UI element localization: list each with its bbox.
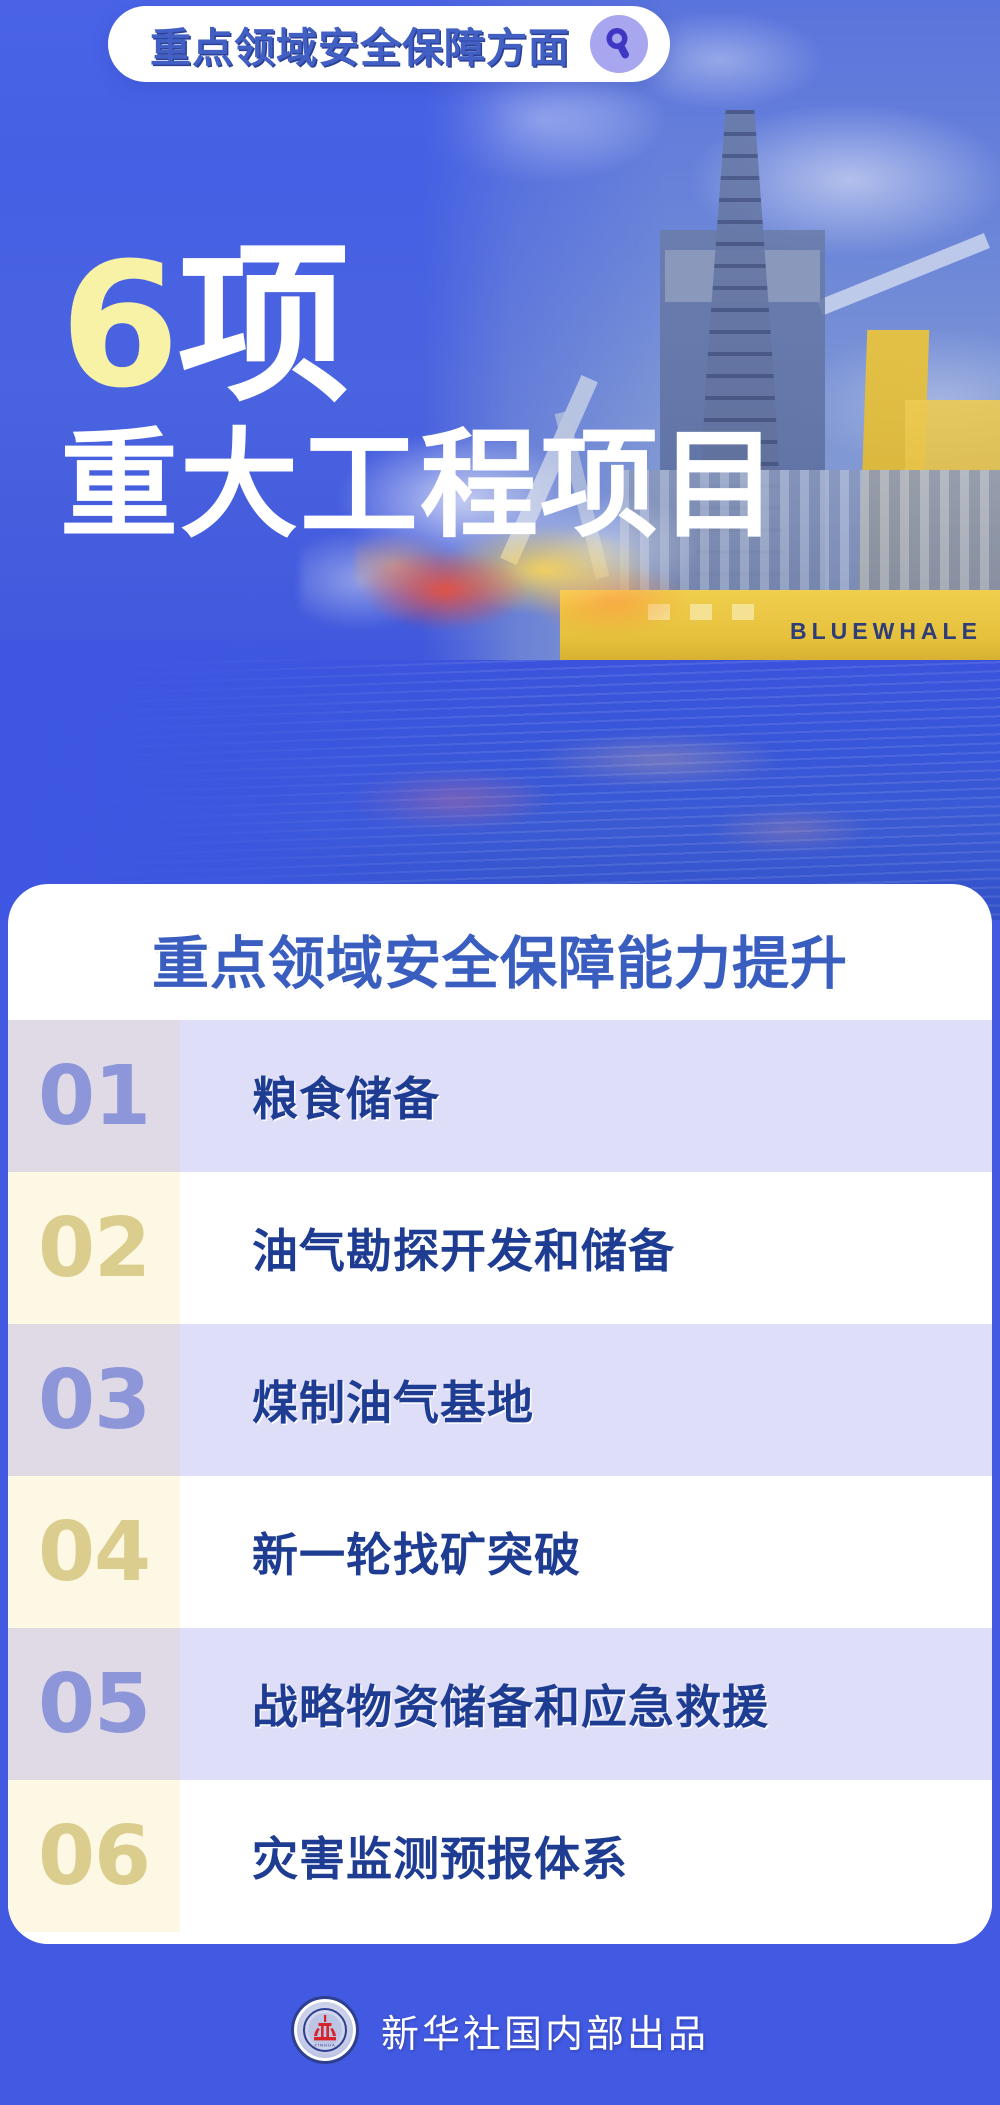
list-item-label: 新一轮找矿突破 — [180, 1519, 992, 1585]
xinhua-logo-icon: XINHUA — [291, 1996, 359, 2064]
infographic-poster: BLUEWHALE 重点领域安全保障方面 6项 重大工程项目 重点领域安全保障能… — [0, 0, 1000, 2105]
title-line-one: 6项 — [60, 240, 780, 412]
list-item-label: 油气勘探开发和储备 — [180, 1215, 992, 1281]
list-item[interactable]: 01 粮食储备 — [8, 1020, 992, 1172]
list-item-number: 04 — [8, 1476, 180, 1628]
list-item[interactable]: 03 煤制油气基地 — [8, 1324, 992, 1476]
hull-name-label: BLUEWHALE — [790, 618, 982, 645]
list-item-label: 战略物资储备和应急救援 — [180, 1671, 992, 1737]
footer: XINHUA 新华社国内部出品 — [0, 1975, 1000, 2085]
list-item-number: 05 — [8, 1628, 180, 1780]
list-item-label: 粮食储备 — [180, 1063, 992, 1129]
title-count: 6 — [60, 225, 178, 426]
title-count-unit: 项 — [178, 225, 348, 426]
search-pin-icon — [590, 15, 648, 73]
page-title: 6项 重大工程项目 — [60, 240, 780, 544]
list-item-label: 煤制油气基地 — [180, 1367, 992, 1433]
list-item-number: 06 — [8, 1780, 180, 1932]
content-card: 重点领域安全保障能力提升 01 粮食储备 02 油气勘探开发和储备 03 煤制油… — [8, 884, 992, 1944]
svg-text:XINHUA: XINHUA — [314, 2043, 336, 2048]
card-heading: 重点领域安全保障能力提升 — [8, 918, 992, 1000]
title-line-two: 重大工程项目 — [60, 426, 780, 544]
list-item[interactable]: 06 灾害监测预报体系 — [8, 1780, 992, 1932]
list-item-number: 03 — [8, 1324, 180, 1476]
list-item[interactable]: 04 新一轮找矿突破 — [8, 1476, 992, 1628]
section-badge-label: 重点领域安全保障方面 — [150, 14, 570, 74]
list-item-label: 灾害监测预报体系 — [180, 1823, 992, 1889]
list-item[interactable]: 02 油气勘探开发和储备 — [8, 1172, 992, 1324]
project-list: 01 粮食储备 02 油气勘探开发和储备 03 煤制油气基地 04 新一轮找矿突… — [8, 1020, 992, 1932]
list-item-number: 01 — [8, 1020, 180, 1172]
list-item[interactable]: 05 战略物资储备和应急救援 — [8, 1628, 992, 1780]
list-item-number: 02 — [8, 1172, 180, 1324]
footer-label: 新华社国内部出品 — [381, 2003, 709, 2058]
hull-window — [732, 604, 754, 620]
section-badge[interactable]: 重点领域安全保障方面 — [108, 6, 670, 82]
ocean-left-gradient-overlay — [0, 640, 520, 920]
